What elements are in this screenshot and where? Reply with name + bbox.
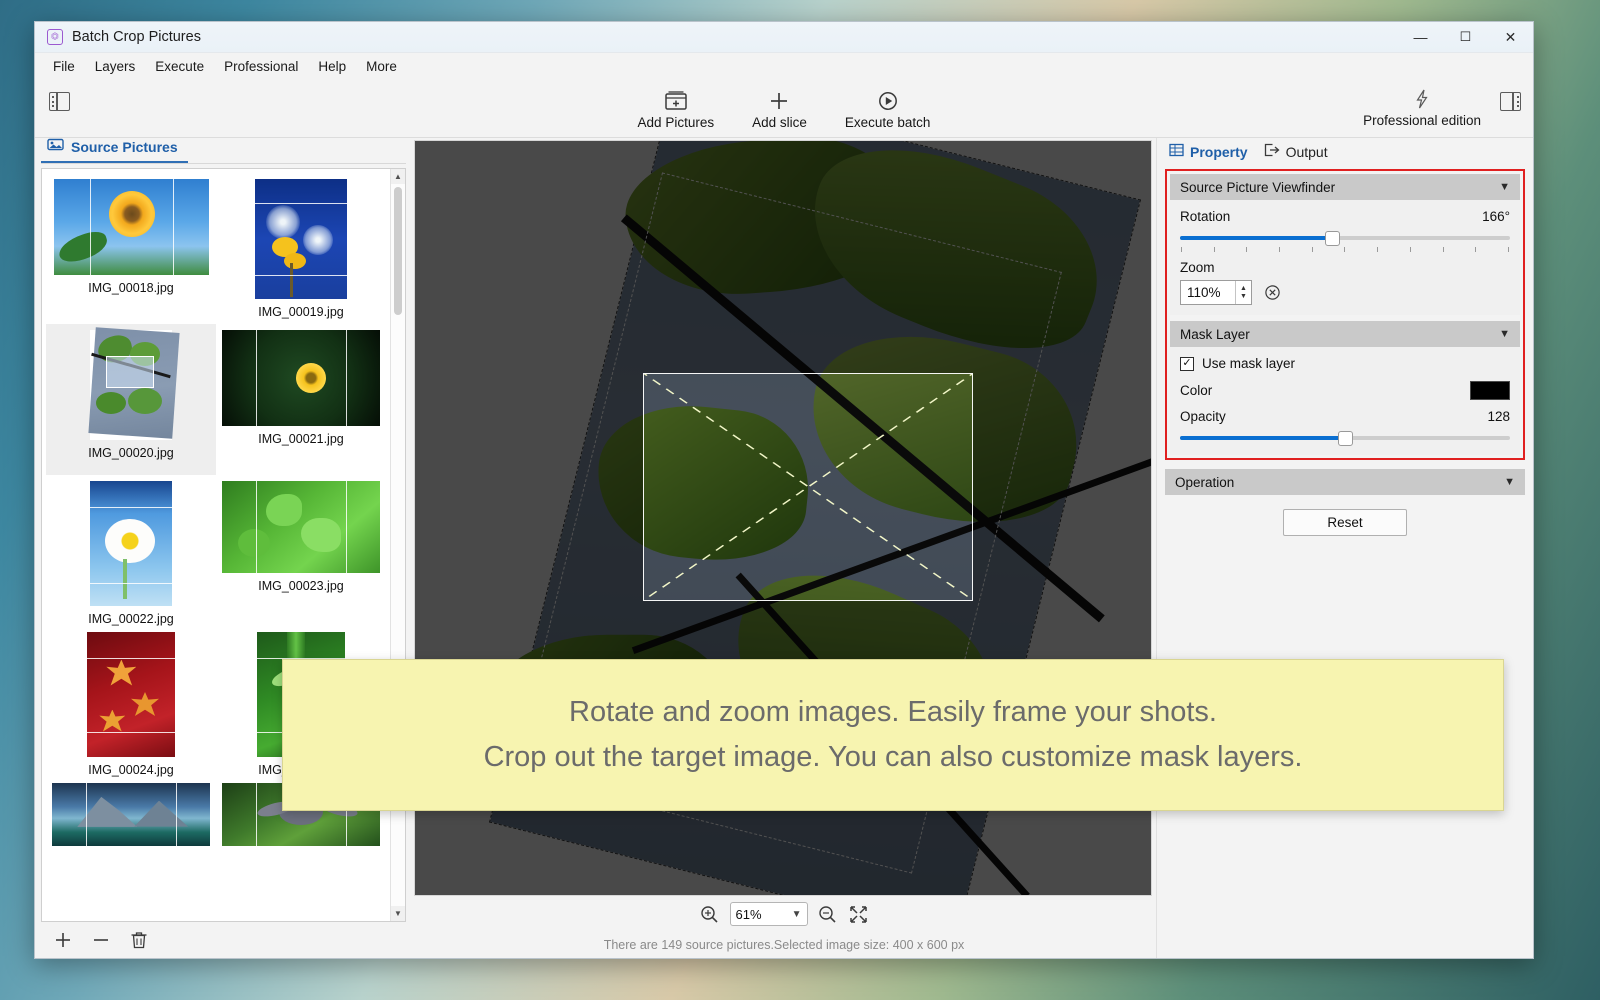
maximize-button[interactable]: ☐ — [1443, 22, 1488, 53]
source-tab-label: Source Pictures — [71, 139, 178, 155]
zoom-stepper[interactable]: 110% ▲▼ — [1180, 280, 1252, 305]
chevron-down-icon: ▼ — [792, 909, 802, 920]
mask-opacity-value: 128 — [1487, 409, 1510, 424]
application-window: ⏣ Batch Crop Pictures — ☐ ✕ File Layers … — [34, 21, 1534, 959]
source-tab-bar: Source Pictures — [41, 138, 406, 164]
property-grid-icon — [1169, 143, 1184, 160]
group-body-mask-layer: ✓ Use mask layer Color Opacity 128 — [1170, 347, 1520, 455]
scrollbar-thumb[interactable] — [394, 187, 402, 315]
menu-more[interactable]: More — [356, 56, 407, 77]
stepper-arrows-icon[interactable]: ▲▼ — [1235, 281, 1251, 304]
zoom-level-value: 61% — [736, 907, 762, 922]
plus-icon[interactable] — [51, 928, 75, 952]
thumbnail-label: IMG_00023.jpg — [258, 579, 343, 593]
professional-edition-button[interactable]: Professional edition — [1363, 86, 1481, 128]
tooltip-line-1: Rotate and zoom images. Easily frame you… — [569, 690, 1217, 735]
crop-selection-rectangle[interactable] — [643, 373, 973, 601]
zoom-in-icon[interactable] — [699, 903, 721, 925]
thumbnail-label: IMG_00022.jpg — [88, 612, 173, 626]
mask-opacity-row: Opacity 128 — [1180, 409, 1510, 424]
mask-opacity-label: Opacity — [1180, 409, 1226, 424]
zoom-level-select[interactable]: 61% ▼ — [730, 902, 808, 926]
clear-circle-icon[interactable] — [1261, 282, 1283, 304]
menu-bar: File Layers Execute Professional Help Mo… — [35, 53, 1533, 80]
status-text: There are 149 source pictures.Selected i… — [604, 938, 965, 952]
zoom-label: Zoom — [1180, 260, 1215, 275]
property-tab-bar: Property Output — [1165, 138, 1525, 164]
thumbnail-image — [90, 481, 172, 606]
menu-file[interactable]: File — [43, 56, 85, 77]
menu-help[interactable]: Help — [308, 56, 356, 77]
title-bar: ⏣ Batch Crop Pictures — ☐ ✕ — [35, 22, 1533, 53]
thumbnail-image — [54, 179, 209, 275]
minimize-button[interactable]: — — [1398, 22, 1443, 53]
zoom-row: Zoom — [1180, 260, 1510, 275]
window-title: Batch Crop Pictures — [72, 29, 201, 45]
menu-professional[interactable]: Professional — [214, 56, 308, 77]
zoom-out-icon[interactable] — [817, 903, 839, 925]
thumbnail-image — [222, 330, 380, 426]
thumbnail-image — [90, 330, 172, 440]
mask-color-swatch[interactable] — [1470, 381, 1510, 400]
add-slice-icon — [766, 88, 792, 114]
group-title: Mask Layer — [1180, 327, 1250, 342]
chevron-down-icon: ▼ — [1504, 476, 1515, 488]
lightning-bolt-icon — [1411, 86, 1433, 112]
group-header-operation[interactable]: Operation ▼ — [1165, 469, 1525, 495]
tooltip-banner: Rotate and zoom images. Easily frame you… — [282, 659, 1504, 811]
group-title: Operation — [1175, 475, 1234, 490]
group-header-mask-layer[interactable]: Mask Layer ▼ — [1170, 321, 1520, 347]
use-mask-layer-checkbox[interactable]: ✓ — [1180, 357, 1194, 371]
add-slice-button[interactable]: Add slice — [744, 86, 815, 132]
rotation-slider[interactable] — [1180, 231, 1510, 245]
mask-opacity-slider[interactable] — [1180, 431, 1510, 445]
menu-layers[interactable]: Layers — [85, 56, 146, 77]
use-mask-layer-label: Use mask layer — [1202, 356, 1295, 371]
minus-icon[interactable] — [89, 928, 113, 952]
thumbnail-label: IMG_00020.jpg — [88, 446, 173, 460]
list-item[interactable]: IMG_00023.jpg — [216, 475, 386, 626]
source-panel-toolbar — [41, 922, 406, 958]
group-body-source-picture-viewfinder: Rotation 166° Zoom — [1170, 200, 1520, 315]
toolbar: Add Pictures Add slice — [35, 80, 1533, 138]
thumbnail-image — [87, 632, 175, 757]
add-pictures-icon — [663, 88, 689, 114]
professional-edition-label: Professional edition — [1363, 113, 1481, 128]
trash-icon[interactable] — [127, 928, 151, 952]
tab-source-pictures[interactable]: Source Pictures — [41, 137, 188, 163]
scroll-up-arrow[interactable]: ▲ — [391, 169, 405, 184]
execute-batch-button[interactable]: Execute batch — [837, 86, 939, 132]
rotation-row: Rotation 166° — [1180, 209, 1510, 224]
scroll-down-arrow[interactable]: ▼ — [391, 906, 405, 921]
thumbnail-label: IMG_00021.jpg — [258, 432, 343, 446]
tab-output[interactable]: Output — [1264, 143, 1328, 164]
main-content: Source Pictures IMG_00018.jpg — [35, 138, 1533, 958]
execute-batch-label: Execute batch — [845, 115, 931, 130]
reset-button[interactable]: Reset — [1283, 509, 1407, 536]
rotation-label: Rotation — [1180, 209, 1230, 224]
add-pictures-label: Add Pictures — [638, 115, 715, 130]
fit-to-screen-icon[interactable] — [848, 903, 870, 925]
highlight-box: Source Picture Viewfinder ▼ Rotation 166… — [1165, 169, 1525, 460]
list-item[interactable]: IMG_00022.jpg — [46, 475, 216, 626]
list-item[interactable]: IMG_00021.jpg — [216, 324, 386, 475]
thumbnail-label: IMG_00019.jpg — [258, 305, 343, 319]
tooltip-line-2: Crop out the target image. You can also … — [484, 735, 1303, 780]
thumbnail-image — [52, 783, 210, 846]
rotation-value: 166° — [1482, 209, 1510, 224]
execute-batch-icon — [875, 88, 901, 114]
chevron-down-icon: ▼ — [1499, 328, 1510, 340]
thumbnail-image — [255, 179, 347, 299]
canvas-panel: 61% ▼ There are 149 source pictures.S — [412, 138, 1156, 958]
crop-guide-diagonals — [643, 373, 973, 601]
right-panel-toggle-icon[interactable] — [1500, 92, 1521, 111]
chevron-down-icon: ▼ — [1499, 181, 1510, 193]
thumbnail-label: IMG_00018.jpg — [88, 281, 173, 295]
add-pictures-button[interactable]: Add Pictures — [630, 86, 723, 132]
tab-property-label: Property — [1190, 144, 1248, 160]
mask-color-label: Color — [1180, 383, 1212, 398]
zoom-control-row: 110% ▲▼ — [1180, 280, 1510, 305]
rotation-slider-ticks — [1180, 247, 1510, 252]
window-controls: — ☐ ✕ — [1398, 22, 1533, 53]
status-bar: There are 149 source pictures.Selected i… — [412, 932, 1156, 958]
group-title: Source Picture Viewfinder — [1180, 180, 1335, 195]
tab-property[interactable]: Property — [1169, 143, 1248, 164]
list-item[interactable]: IMG_00024.jpg — [46, 626, 216, 777]
property-panel: Property Output Source Pic — [1156, 138, 1533, 958]
tab-output-label: Output — [1286, 144, 1328, 160]
zoom-toolbar: 61% ▼ — [412, 896, 1156, 932]
menu-execute[interactable]: Execute — [145, 56, 214, 77]
pictures-icon — [47, 137, 64, 156]
add-slice-label: Add slice — [752, 115, 807, 130]
list-item[interactable] — [46, 777, 216, 852]
close-button[interactable]: ✕ — [1488, 22, 1533, 53]
mask-color-row: Color — [1180, 381, 1510, 400]
source-pictures-panel: Source Pictures IMG_00018.jpg — [35, 138, 412, 958]
app-icon: ⏣ — [47, 29, 63, 45]
list-item[interactable]: IMG_00018.jpg — [46, 173, 216, 324]
output-arrow-icon — [1264, 143, 1280, 160]
thumbnail-image — [222, 481, 380, 573]
use-mask-layer-row[interactable]: ✓ Use mask layer — [1180, 356, 1510, 371]
thumbnail-label: IMG_00024.jpg — [88, 763, 173, 777]
list-item[interactable]: IMG_00019.jpg — [216, 173, 386, 324]
list-item-selected[interactable]: IMG_00020.jpg — [46, 324, 216, 475]
zoom-stepper-value: 110% — [1187, 285, 1221, 300]
group-header-source-picture-viewfinder[interactable]: Source Picture Viewfinder ▼ — [1170, 174, 1520, 200]
